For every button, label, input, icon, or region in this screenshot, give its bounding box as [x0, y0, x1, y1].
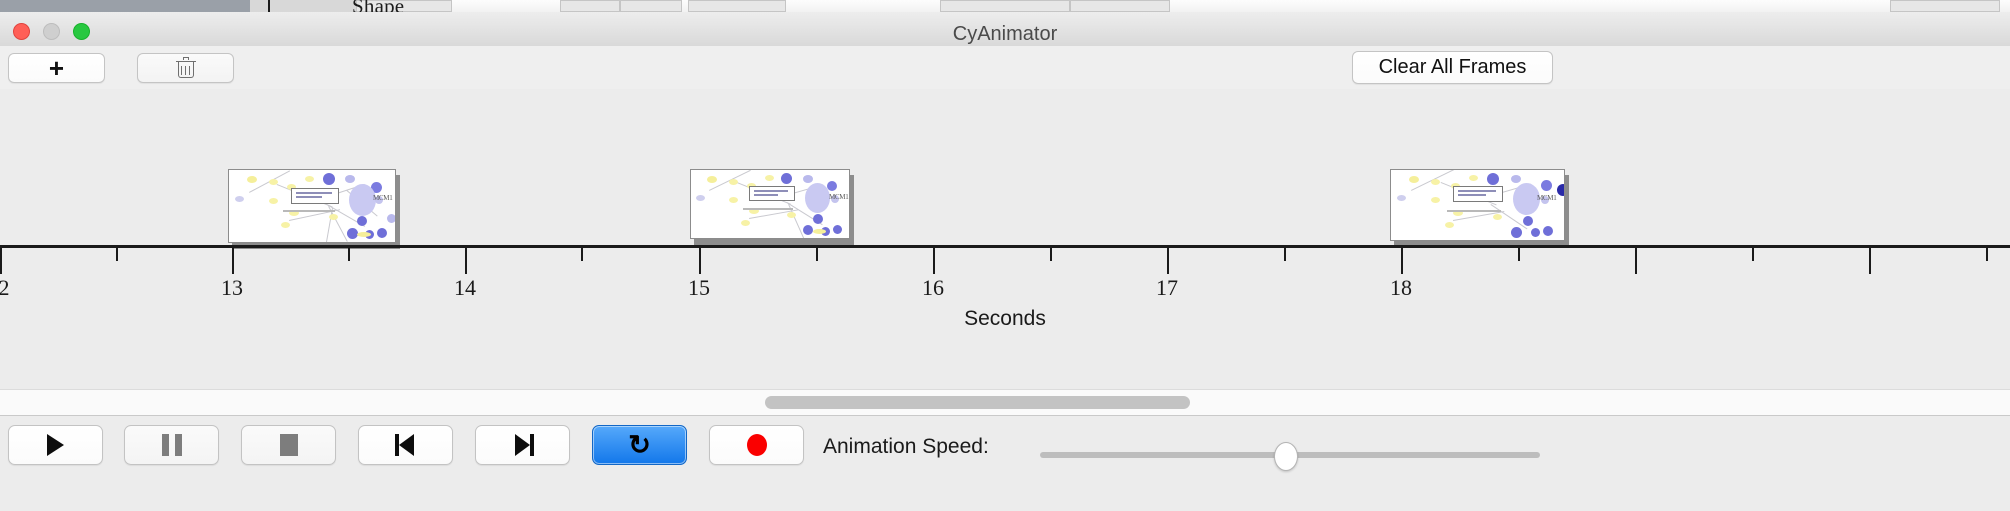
ruler-axis-line — [0, 245, 2010, 248]
thumbnail-annotation-box — [291, 188, 339, 204]
animation-speed-slider[interactable] — [1040, 436, 1540, 474]
skip-back-icon — [395, 434, 417, 456]
record-button[interactable] — [709, 425, 804, 465]
network-thumbnail-image: MCM1 — [690, 169, 850, 239]
ruler-tick-major — [232, 248, 234, 274]
cyanimator-window: Shape CyAnimator + Clear All Frames — [0, 0, 2010, 510]
ruler-tick-major — [1401, 248, 1403, 274]
clear-all-frames-button[interactable]: Clear All Frames — [1352, 51, 1553, 84]
skip-start-button[interactable] — [358, 425, 453, 465]
time-ruler[interactable]: 2 13 14 15 16 17 18 Seconds — [0, 245, 2010, 364]
slider-thumb[interactable] — [1274, 442, 1298, 471]
background-window-word: Shape — [352, 0, 404, 12]
animation-speed-label: Animation Speed: — [823, 435, 989, 459]
ruler-tick-minor — [1284, 248, 1286, 261]
loop-button[interactable]: ↻ — [592, 425, 687, 465]
trash-icon — [177, 58, 195, 78]
ruler-tick-major — [699, 248, 701, 274]
ruler-tick-major — [0, 248, 2, 274]
ruler-tick-minor — [1518, 248, 1520, 261]
ruler-tick-minor — [1986, 248, 1988, 261]
skip-forward-icon — [512, 434, 534, 456]
network-thumbnail-image: MCM1 — [228, 169, 396, 243]
stop-icon — [280, 434, 298, 456]
ruler-label: 17 — [1156, 275, 1178, 301]
title-bar: CyAnimator — [0, 12, 2010, 47]
background-tabbar — [0, 0, 250, 12]
ruler-tick-minor — [348, 248, 350, 261]
loop-icon: ↻ — [628, 432, 651, 459]
play-button[interactable] — [8, 425, 103, 465]
ruler-tick-minor — [581, 248, 583, 261]
skip-end-button[interactable] — [475, 425, 570, 465]
timeline-panel[interactable]: MCM1 — [0, 89, 2010, 414]
ruler-tick-minor — [1050, 248, 1052, 261]
ruler-label: 13 — [221, 275, 243, 301]
ruler-label: 18 — [1390, 275, 1412, 301]
thumbnail-annotation-box — [749, 186, 795, 201]
add-frame-button[interactable]: + — [8, 53, 105, 83]
scrollbar-thumb[interactable] — [765, 396, 1190, 409]
ruler-tick-major — [1635, 248, 1637, 274]
ruler-label: 14 — [454, 275, 476, 301]
toolbar: + Clear All Frames — [0, 46, 2010, 90]
network-thumbnail-image: MCM1 — [1390, 169, 1565, 241]
frame-thumbnail[interactable]: MCM1 — [1390, 169, 1565, 241]
delete-frame-button[interactable] — [137, 53, 234, 83]
ruler-tick-minor — [116, 248, 118, 261]
ruler-label: 15 — [688, 275, 710, 301]
ruler-tick-major — [1869, 248, 1871, 274]
frame-thumbnail[interactable]: MCM1 — [228, 169, 396, 243]
horizontal-scrollbar[interactable] — [0, 389, 2010, 416]
record-icon — [747, 434, 767, 456]
background-window-strip: Shape — [0, 0, 2010, 12]
pause-icon — [162, 434, 182, 456]
ruler-tick-minor — [1752, 248, 1754, 261]
ruler-label: 2 — [0, 275, 10, 301]
playback-control-bar: ↻ Animation Speed: — [0, 415, 2010, 511]
window-title: CyAnimator — [0, 23, 2010, 46]
plus-icon: + — [49, 55, 64, 81]
ruler-tick-major — [933, 248, 935, 274]
frame-thumbnail[interactable]: MCM1 — [690, 169, 850, 239]
axis-title: Seconds — [0, 307, 2010, 331]
ruler-tick-minor — [816, 248, 818, 261]
pause-button[interactable] — [124, 425, 219, 465]
ruler-tick-major — [465, 248, 467, 274]
stop-button[interactable] — [241, 425, 336, 465]
thumbnail-annotation-box — [1453, 186, 1503, 202]
ruler-label: 16 — [922, 275, 944, 301]
ruler-tick-major — [1167, 248, 1169, 274]
play-icon — [47, 434, 64, 456]
